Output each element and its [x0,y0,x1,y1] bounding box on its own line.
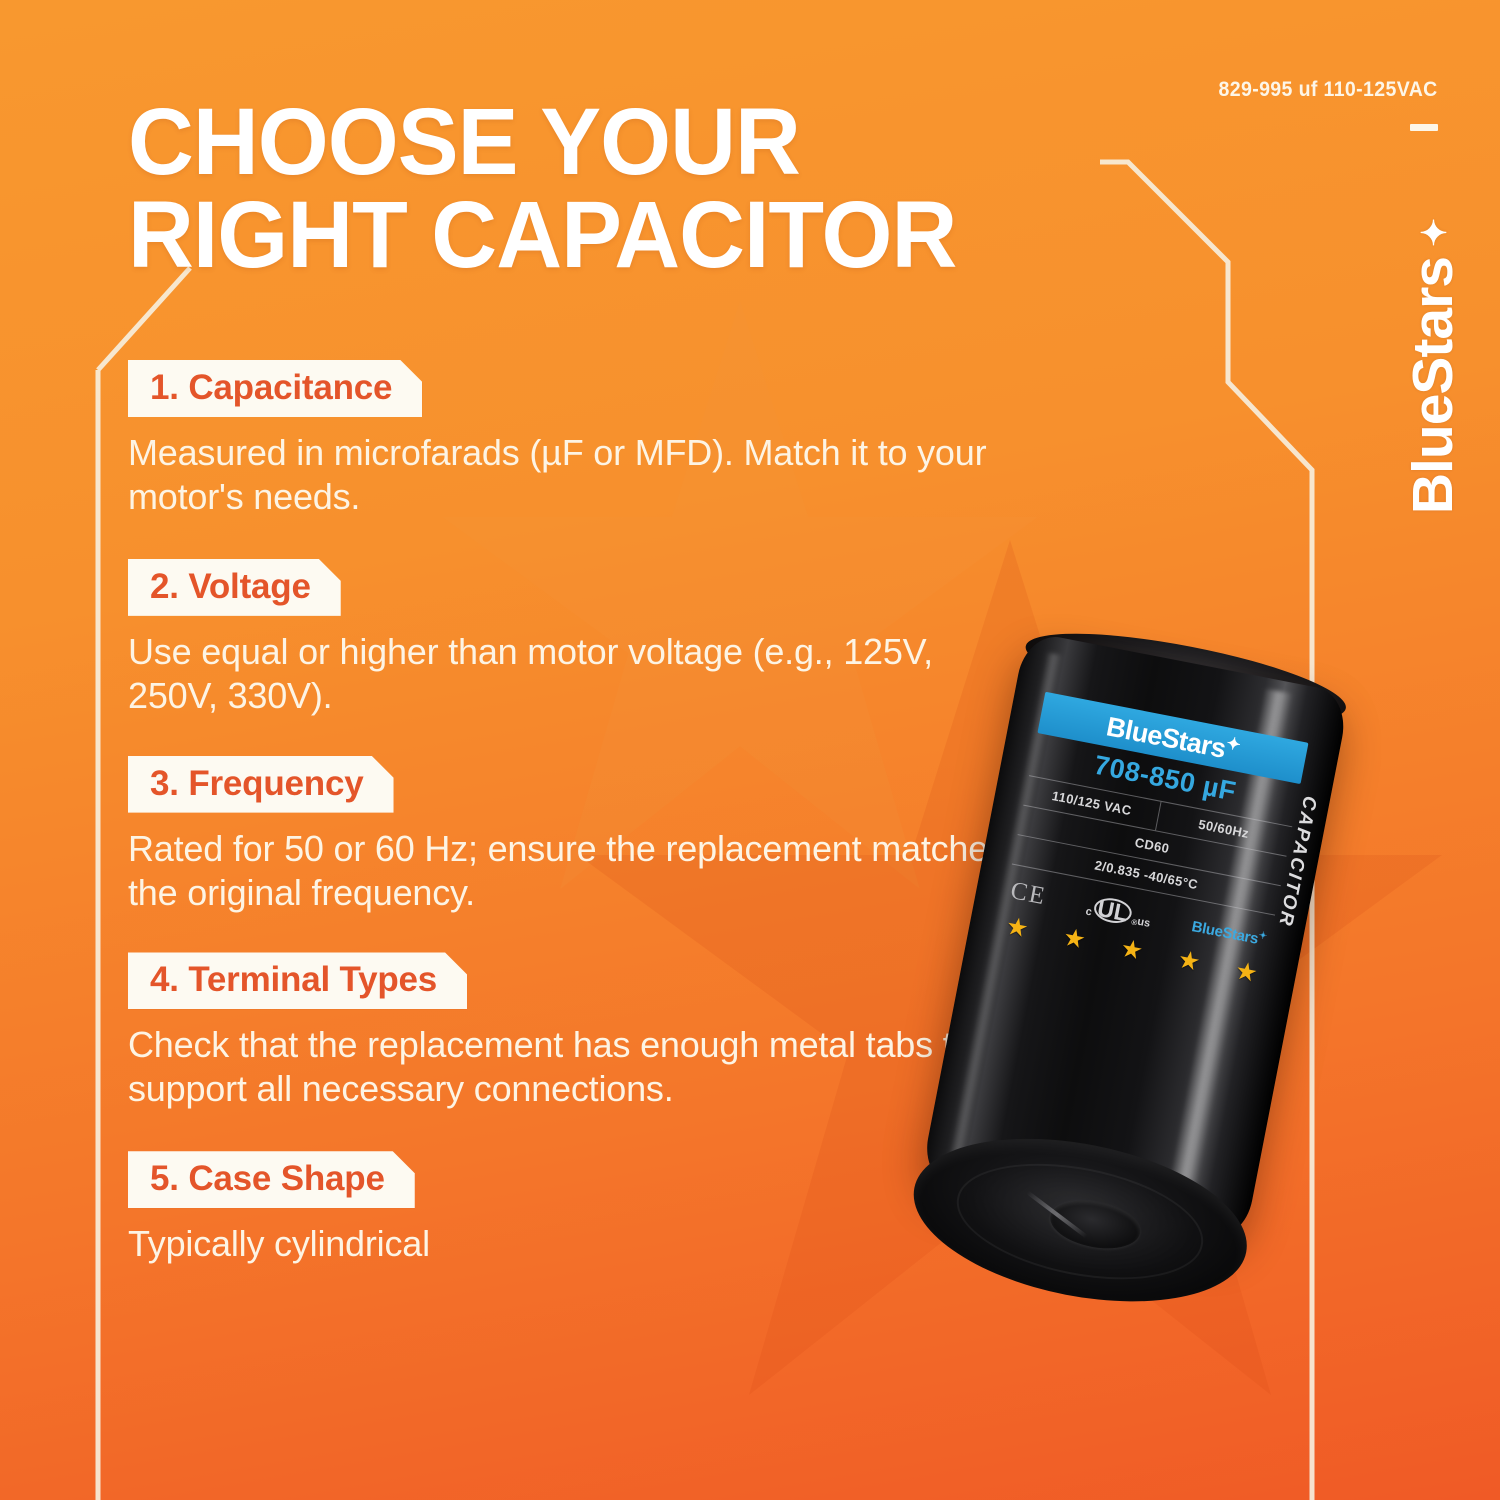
step-tag-frequency: 3. Frequency [128,756,394,813]
label-small-brand-logo: BlueStars✦ [1190,917,1267,949]
sku-label: 829-995 uf 110-125VAC [1219,78,1438,102]
step-tag-case-shape: 5. Case Shape [128,1151,415,1208]
brand-logo-text: BlueStars [1405,257,1462,514]
page-title-line-2: RIGHT CAPACITOR [128,189,1088,282]
star-icon: ★ [1233,958,1260,987]
steps-list: 1. Capacitance Measured in microfarads (… [128,360,1028,1266]
star-icon: ★ [1176,947,1203,976]
step-item-capacitance: 1. Capacitance Measured in microfarads (… [128,360,1028,519]
sku-divider-dash [1410,124,1438,131]
label-small-brand-text: BlueStars [1190,918,1259,948]
step-item-terminal-types: 4. Terminal Types Check that the replace… [128,952,1028,1111]
step-body-terminal-types: Check that the replacement has enough me… [128,1023,1008,1111]
capacitor-can: BlueStars✦ 708-850 µF 110/125 VAC 50/60H… [905,631,1351,1322]
step-item-frequency: 3. Frequency Rated for 50 or 60 Hz; ensu… [128,756,1028,915]
product-image-capacitor: BlueStars✦ 708-850 µF 110/125 VAC 50/60H… [965,645,1395,1415]
step-tag-terminal-types: 4. Terminal Types [128,952,467,1009]
brand-logo-vertical: BlueStars✦ [1405,212,1462,514]
step-body-case-shape: Typically cylindrical [128,1222,1008,1266]
ul-mark-body: UL [1092,895,1135,927]
step-body-frequency: Rated for 50 or 60 Hz; ensure the replac… [128,827,1008,915]
label-small-brand-star-icon: ✦ [1258,930,1268,942]
label-brand-star-icon: ✦ [1225,733,1242,754]
step-item-case-shape: 5. Case Shape Typically cylindrical [128,1151,1028,1266]
page-title: CHOOSE YOUR RIGHT CAPACITOR [128,96,1088,282]
step-body-capacitance: Measured in microfarads (µF or MFD). Mat… [128,431,1008,519]
step-item-voltage: 2. Voltage Use equal or higher than moto… [128,559,1028,718]
step-body-voltage: Use equal or higher than motor voltage (… [128,630,1008,718]
step-tag-voltage: 2. Voltage [128,559,341,616]
ul-mark-prefix-c: c [1085,906,1093,919]
brand-star-icon: ✦ [1417,212,1451,251]
step-tag-capacitance: 1. Capacitance [128,360,422,417]
ce-mark-icon: CE [1008,877,1049,911]
capacitor-label: BlueStars✦ 708-850 µF 110/125 VAC 50/60H… [998,692,1309,989]
star-icon: ★ [1061,925,1088,954]
page-title-line-1: CHOOSE YOUR [128,96,1088,189]
ul-mark-suffix-us: us [1136,916,1151,930]
star-icon: ★ [1118,936,1145,965]
ul-listed-mark-icon: cUL®us [1085,893,1154,930]
star-icon: ★ [1004,914,1031,943]
